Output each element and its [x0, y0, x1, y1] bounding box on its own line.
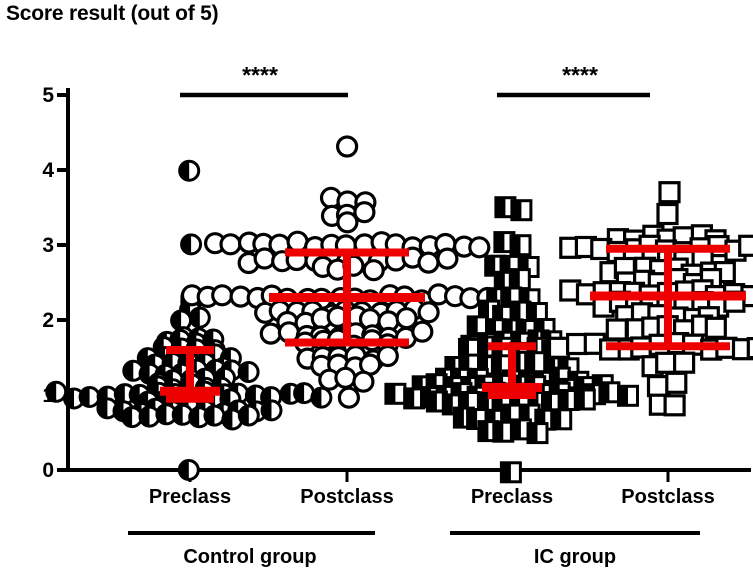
data-point [748, 339, 753, 358]
data-point [665, 396, 684, 415]
data-point [47, 382, 66, 401]
data-point [413, 322, 432, 341]
data-point [80, 388, 99, 407]
data-point [528, 424, 547, 443]
data-point [607, 320, 626, 339]
data-point [619, 386, 638, 405]
data-point [364, 261, 383, 280]
data-point [675, 353, 694, 372]
data-point [339, 388, 358, 407]
data-point [511, 236, 530, 255]
data-point [740, 236, 753, 255]
data-point [221, 235, 240, 254]
data-point [261, 324, 280, 343]
scatter-plot-canvas [0, 0, 753, 578]
data-point [575, 390, 594, 409]
data-point [512, 201, 531, 220]
data-point [600, 383, 619, 402]
data-point [419, 253, 438, 272]
data-point [312, 388, 331, 407]
data-point [182, 235, 201, 254]
data-point [336, 368, 355, 387]
data-point [190, 308, 209, 327]
data-points-layer [47, 137, 753, 482]
data-point [649, 377, 668, 396]
data-point [262, 401, 281, 420]
data-point [660, 183, 679, 202]
data-point [470, 238, 489, 257]
data-point [510, 270, 529, 289]
data-point [667, 373, 686, 392]
data-point [205, 406, 224, 425]
data-point [179, 461, 198, 480]
data-point [213, 286, 232, 305]
data-point [658, 205, 677, 224]
data-point [550, 338, 569, 357]
data-point [239, 363, 258, 382]
data-point [419, 303, 438, 322]
data-point [180, 161, 199, 180]
data-point [438, 249, 457, 268]
data-point [552, 410, 571, 429]
data-point [397, 309, 416, 328]
data-point [338, 213, 357, 232]
data-point [526, 353, 545, 372]
data-point [501, 463, 520, 482]
data-point [239, 406, 258, 425]
data-point [354, 372, 373, 391]
data-point [378, 347, 397, 366]
data-point [255, 249, 274, 268]
data-point [657, 353, 676, 372]
data-point [338, 137, 357, 156]
data-point [386, 384, 405, 403]
chart-root: Score result (out of 5) 5 4 3 2 1 0 ****… [0, 0, 753, 578]
data-point [706, 318, 725, 337]
